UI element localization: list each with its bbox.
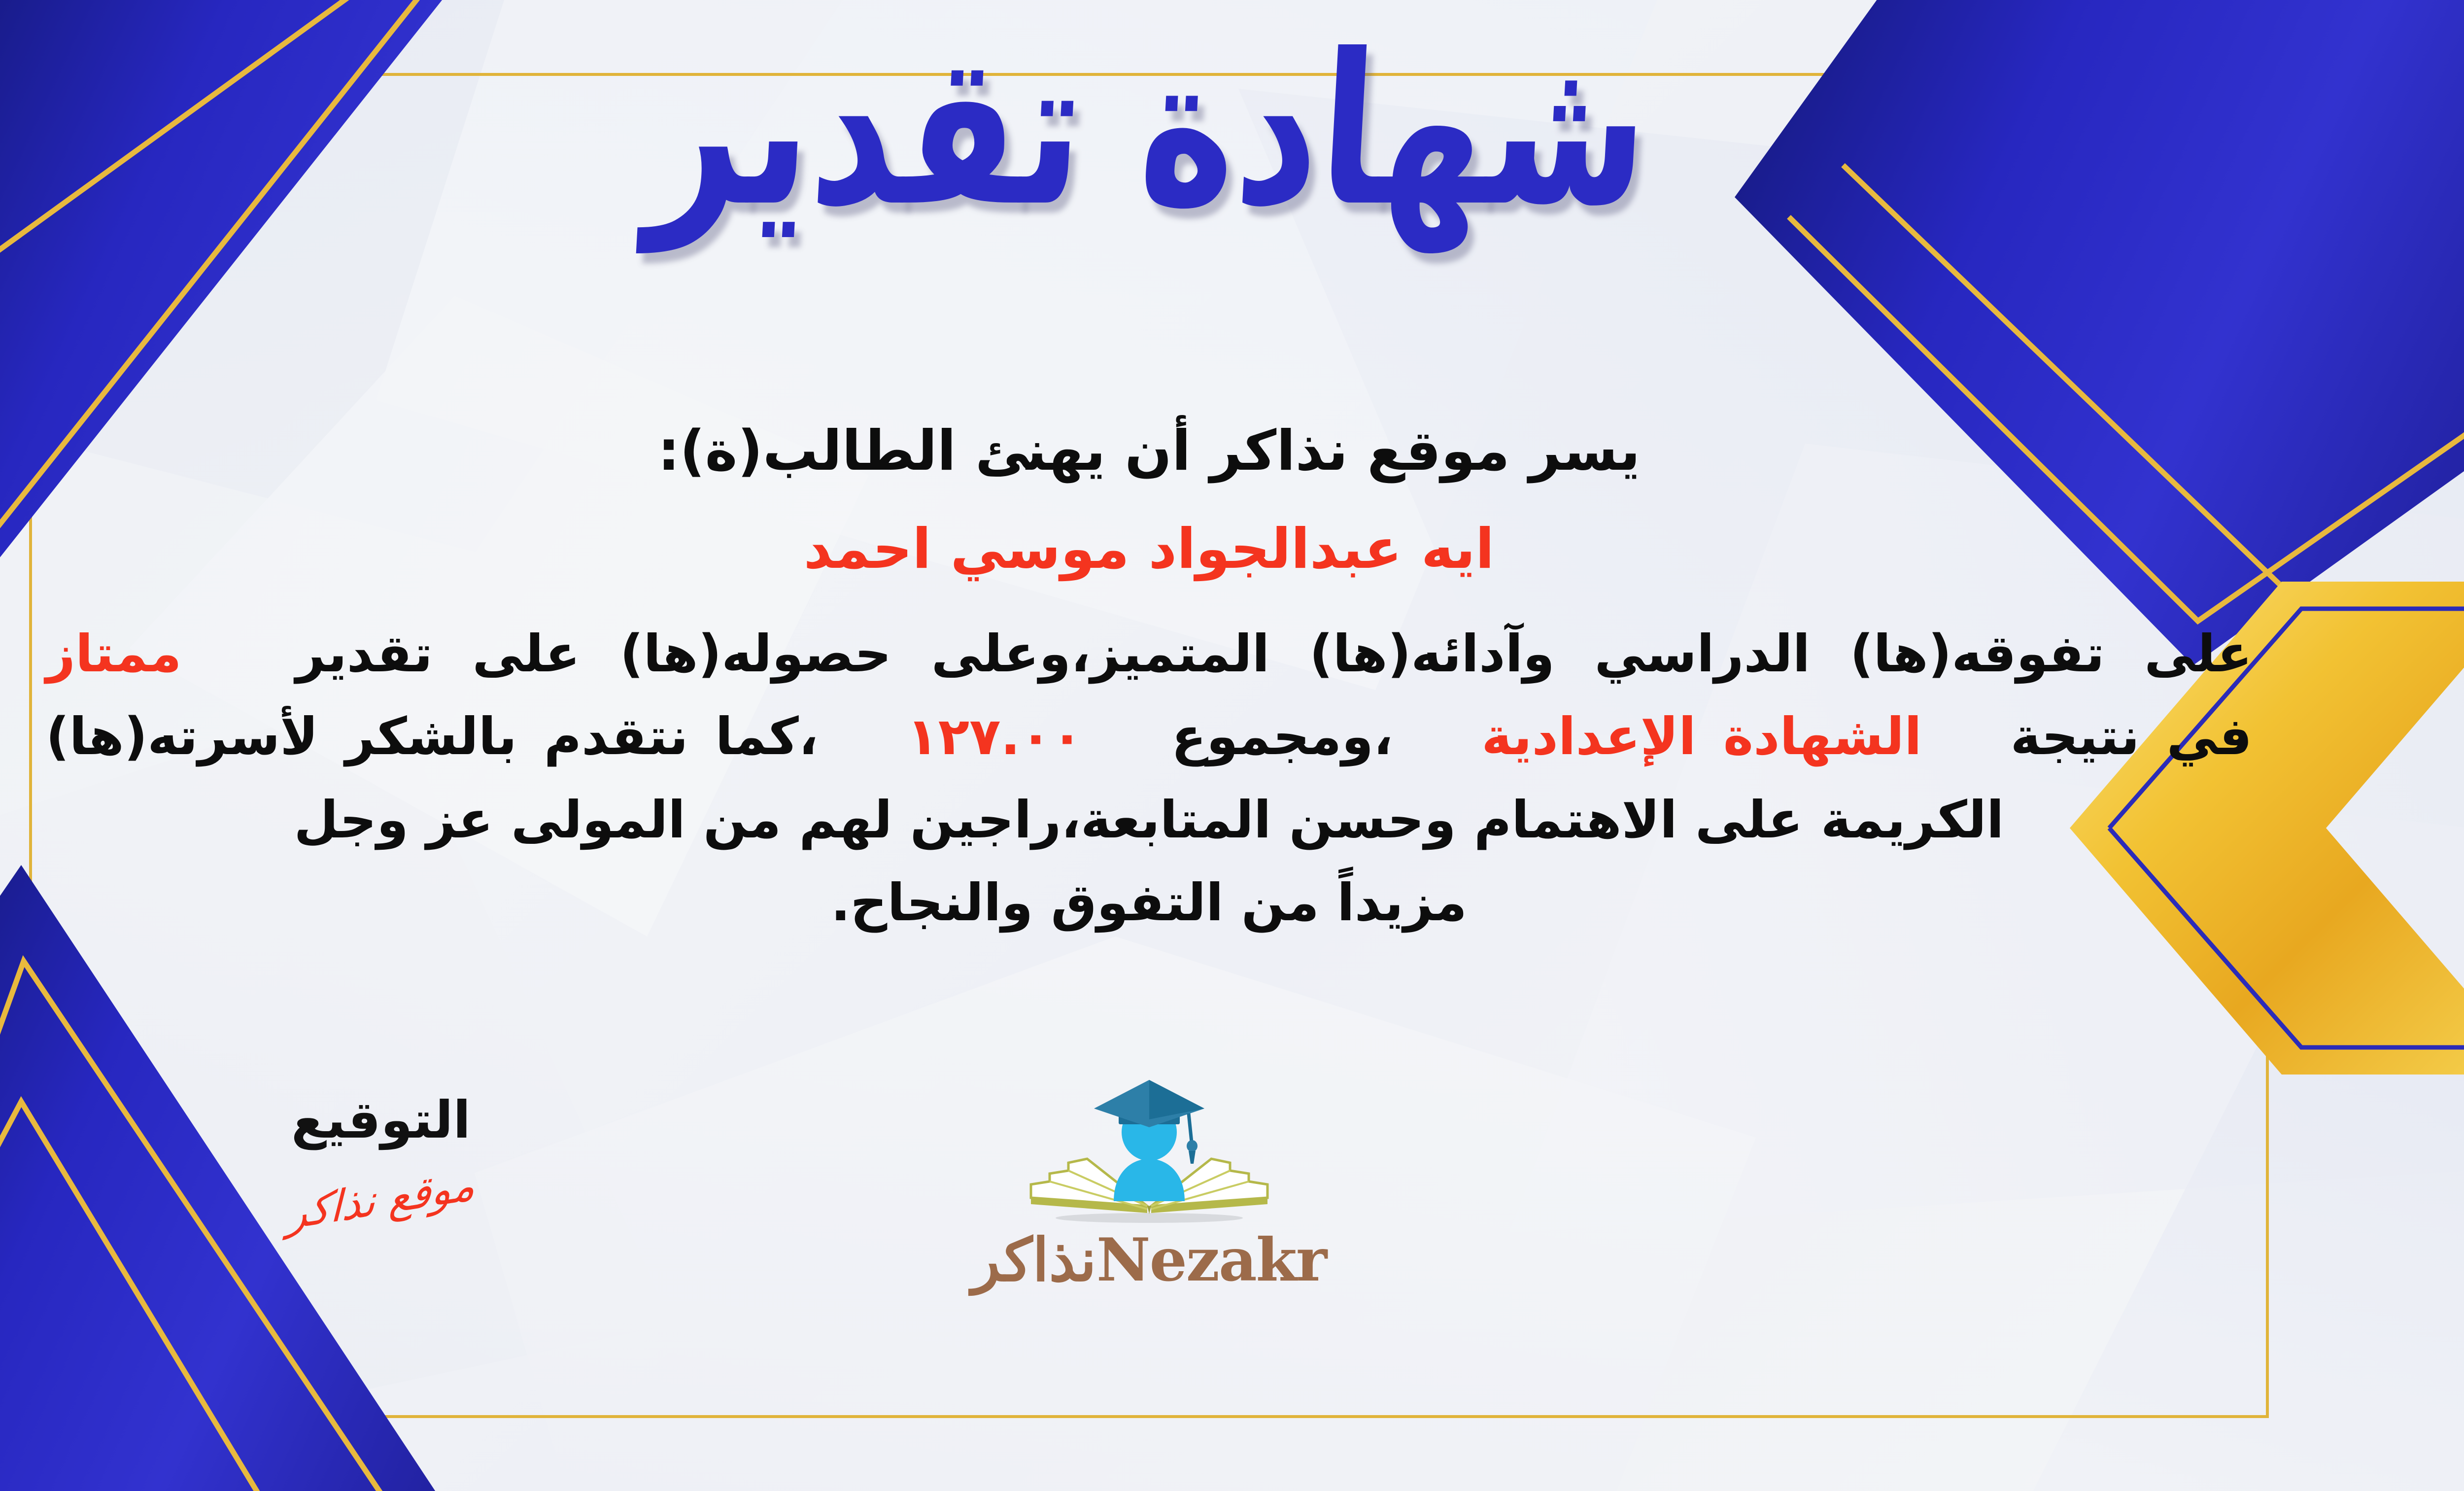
student-name: ايه عبدالجواد موسي احمد [46,514,2252,586]
logo-wordmark-arabic: نذاكر [972,1225,1096,1295]
award-text-segment-4: ،كما نتقدم بالشكر لأسرته(ها) [46,706,818,766]
brand-logo: Nezakrنذاكر [957,1072,1341,1290]
signature-label: التوقيع [228,1092,534,1148]
award-text-segment-1: على تفوقه(ها) الدراسي وآدائه(ها) المتميز… [296,624,2252,684]
signature-block: التوقيع موقع نذاكر [228,1092,534,1221]
award-text-segment-6: مزيداً من التفوق والنجاح. [831,872,1467,933]
certificate-title: شهادة تقدير [644,27,1654,235]
certificate-page: شهادة تقدير يسر موقع نذاكر أن يهنئ الطال… [0,0,2464,1491]
greeting-line: يسر موقع نذاكر أن يهنئ الطالب(ة): [46,409,2252,493]
certificate-title-area: شهادة تقدير [0,49,2464,212]
certificate-footer: التوقيع موقع نذاكر [46,1092,2252,1407]
award-paragraph: على تفوقه(ها) الدراسي وآدائه(ها) المتميز… [46,612,2252,944]
exam-name: الشهادة الإعدادية [1481,706,1921,766]
grade-value: ممتاز [46,624,182,684]
award-text-segment-2: في نتيجة [2011,706,2252,766]
award-text-segment-5: الكريمة على الاهتمام وحسن المتابعة،راجين… [294,790,2004,850]
certificate-body: يسر موقع نذاكر أن يهنئ الطالب(ة): ايه عب… [46,409,2252,944]
total-score: ١٢٧.٠٠ [907,706,1083,766]
logo-wordmark-latin: Nezakr [1096,1225,1326,1295]
award-text-segment-3: ،ومجموع [1171,706,1393,766]
graduate-open-book-icon [1021,1072,1277,1235]
logo-wordmark: Nezakrنذاكر [957,1231,1341,1290]
signature-handwriting: موقع نذاكر [287,1164,476,1237]
